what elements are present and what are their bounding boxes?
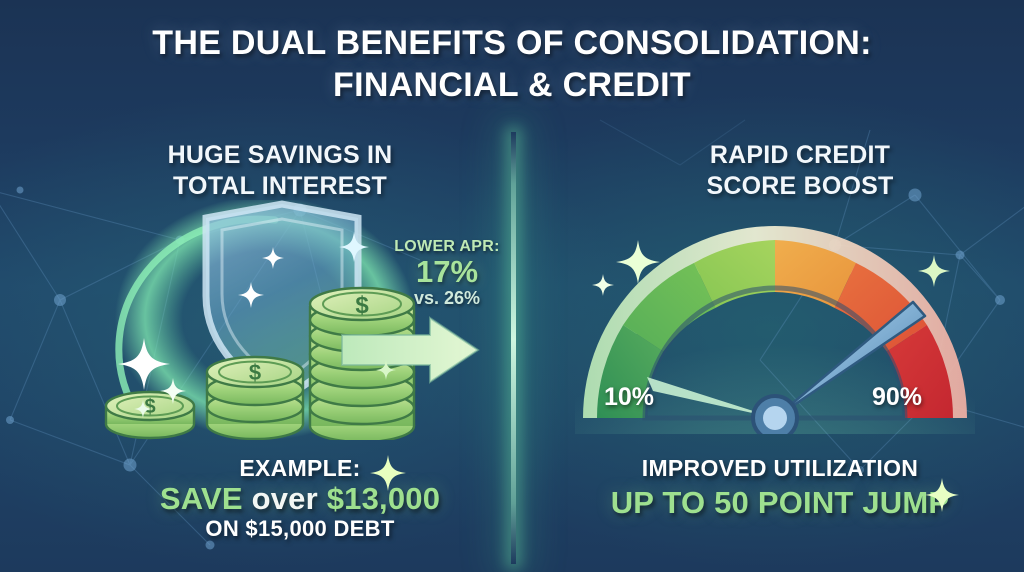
panel-divider [511, 132, 516, 564]
svg-text:$: $ [144, 396, 155, 418]
left-heading-line-1: HUGE SAVINGS IN [110, 140, 450, 171]
left-caption-sub: ON $15,000 DEBT [90, 516, 510, 542]
coin-stack-short: $ [106, 392, 194, 438]
left-caption-kicker: EXAMPLE: [90, 455, 510, 482]
left-panel-heading: HUGE SAVINGS IN TOTAL INTEREST [110, 140, 450, 201]
infographic-canvas: THE DUAL BENEFITS OF CONSOLIDATION: FINA… [0, 0, 1024, 572]
savings-amount: $13,000 [327, 481, 440, 516]
gauge-label-low: 10% [604, 383, 654, 412]
over-word: over [252, 481, 318, 516]
right-caption-main: UP TO 50 POINT JUMP [560, 486, 1000, 520]
savings-illustration: $ $ [90, 200, 500, 440]
apr-comparison-rate: vs. 26% [372, 288, 522, 309]
left-caption-main: SAVE over $13,000 [90, 482, 510, 516]
page-title: THE DUAL BENEFITS OF CONSOLIDATION: FINA… [0, 22, 1024, 106]
gauge-label-high: 90% [872, 383, 922, 412]
svg-text:$: $ [249, 360, 261, 385]
left-heading-line-2: TOTAL INTEREST [110, 171, 450, 202]
right-panel-heading: RAPID CREDIT SCORE BOOST [630, 140, 970, 201]
title-line-1: THE DUAL BENEFITS OF CONSOLIDATION: [0, 22, 1024, 64]
apr-primary-rate: 17% [372, 256, 522, 288]
right-heading-line-1: RAPID CREDIT [630, 140, 970, 171]
gauge-hub [753, 396, 797, 434]
svg-text:$: $ [355, 292, 369, 319]
save-word: SAVE [160, 481, 243, 516]
left-caption: EXAMPLE: SAVE over $13,000 ON $15,000 DE… [90, 455, 510, 542]
right-caption: IMPROVED UTILIZATION UP TO 50 POINT JUMP [560, 455, 1000, 520]
lower-apr-callout: LOWER APR: 17% vs. 26% [372, 238, 522, 309]
coin-stack-medium: $ [207, 357, 303, 439]
right-caption-kicker: IMPROVED UTILIZATION [560, 455, 1000, 482]
title-line-2: FINANCIAL & CREDIT [0, 64, 1024, 106]
right-heading-line-2: SCORE BOOST [630, 171, 970, 202]
